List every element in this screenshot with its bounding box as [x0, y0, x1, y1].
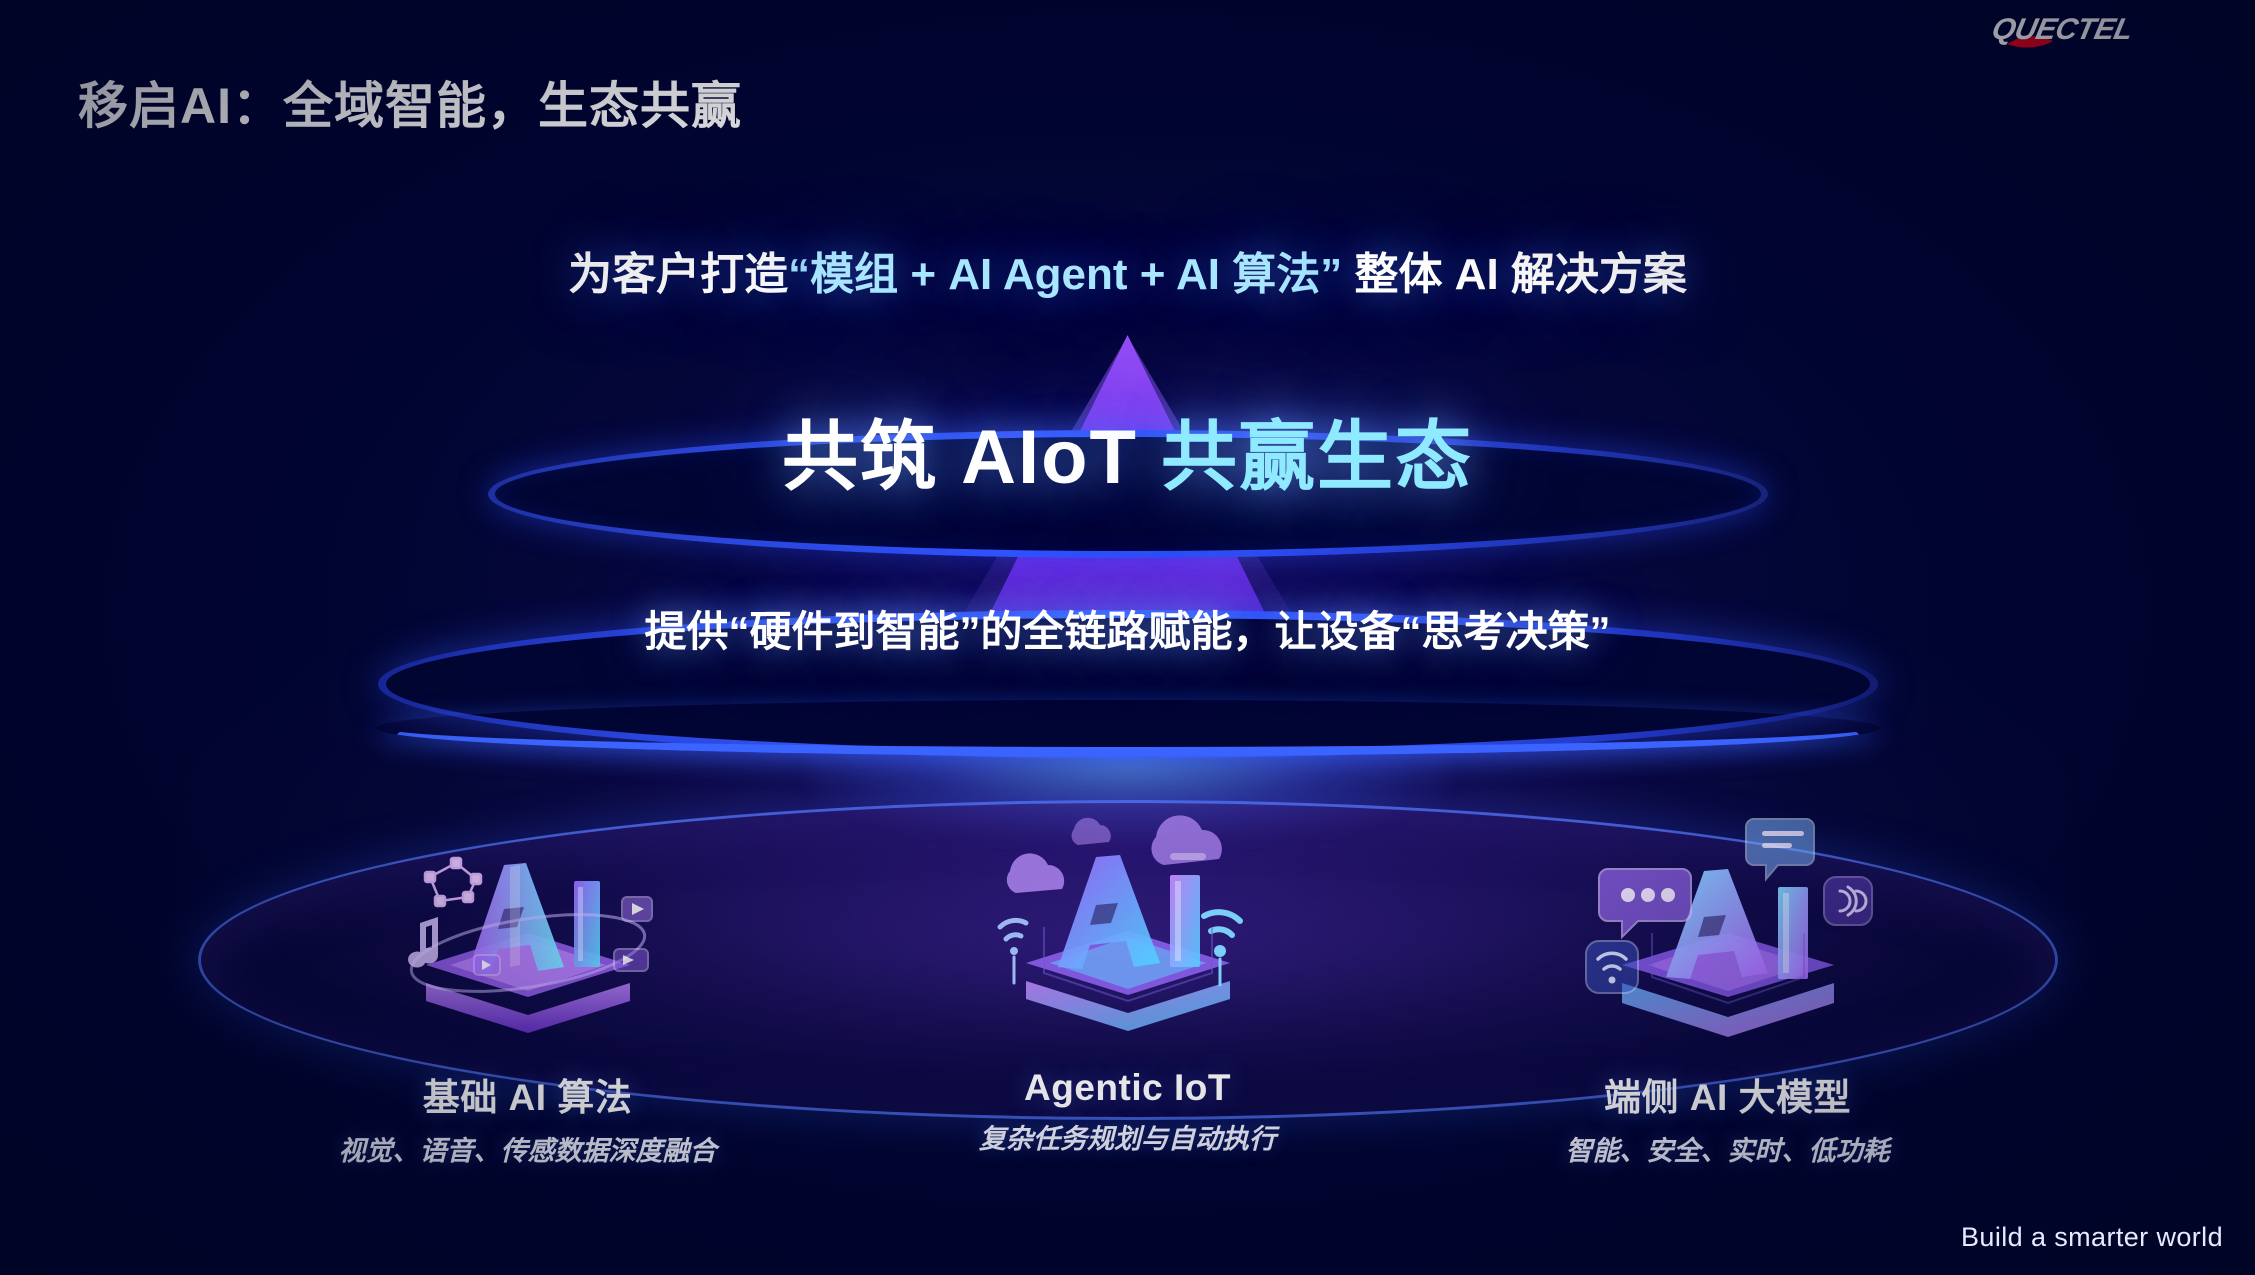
subtitle-highlight: 模组 + AI Agent + AI 算法 [810, 250, 1320, 299]
pillar-edge-ai-model[interactable]: 端侧 AI 大模型 智能、安全、实时、低功耗 [1528, 805, 1928, 1168]
ai-cube-cloud-icon [978, 805, 1278, 1055]
pillar-desc: 视觉、语音、传感数据深度融合 [339, 1129, 717, 1168]
center-headline: 共筑 AIoT 共赢生态 [0, 395, 2255, 505]
pillar-agentic-iot[interactable]: Agentic IoT 复杂任务规划与自动执行 [928, 805, 1328, 1156]
pillar-title: 基础 AI 算法 [423, 1067, 633, 1121]
svg-text:QUECTEL: QUECTEL [1989, 13, 2136, 46]
ai-cube-chat-icon [1578, 805, 1878, 1055]
ring-mid-front-arc [375, 700, 1880, 756]
pillar-desc: 智能、安全、实时、低功耗 [1566, 1129, 1890, 1168]
center-subline: 提供“硬件到智能”的全链路赋能，让设备“思考决策” [0, 598, 2255, 659]
center-headline-white: 共筑 AIoT [782, 415, 1138, 500]
ai-cube-media-icon [378, 805, 678, 1055]
page-title: 移启AI：全域智能，生态共赢 [78, 66, 742, 138]
subtitle-open-quote: “ [788, 250, 810, 299]
subtitle-line: 为客户打造“模组 + AI Agent + AI 算法” 整体 AI 解决方案 [0, 238, 2255, 302]
subtitle-suffix: 整体 AI 解决方案 [1354, 250, 1686, 299]
pillar-desc: 复杂任务规划与自动执行 [979, 1117, 1276, 1156]
subtitle-close-quote: ” [1320, 250, 1342, 299]
footer-tagline: Build a smarter world [1961, 1222, 2223, 1253]
pillar-foundation-ai[interactable]: 基础 AI 算法 视觉、语音、传感数据深度融合 [328, 805, 728, 1168]
pillar-title: Agentic IoT [1024, 1067, 1231, 1109]
pillar-title: 端侧 AI 大模型 [1604, 1067, 1851, 1121]
center-headline-cyan: 共赢生态 [1161, 415, 1473, 500]
slide-canvas: QUECTEL 移启AI：全域智能，生态共赢 为客户打造“模组 + AI Age… [0, 0, 2255, 1275]
quectel-logo: QUECTEL [1979, 8, 2229, 54]
pillars-row: 基础 AI 算法 视觉、语音、传感数据深度融合 [0, 805, 2255, 1168]
subtitle-prefix: 为客户打造 [568, 250, 788, 299]
